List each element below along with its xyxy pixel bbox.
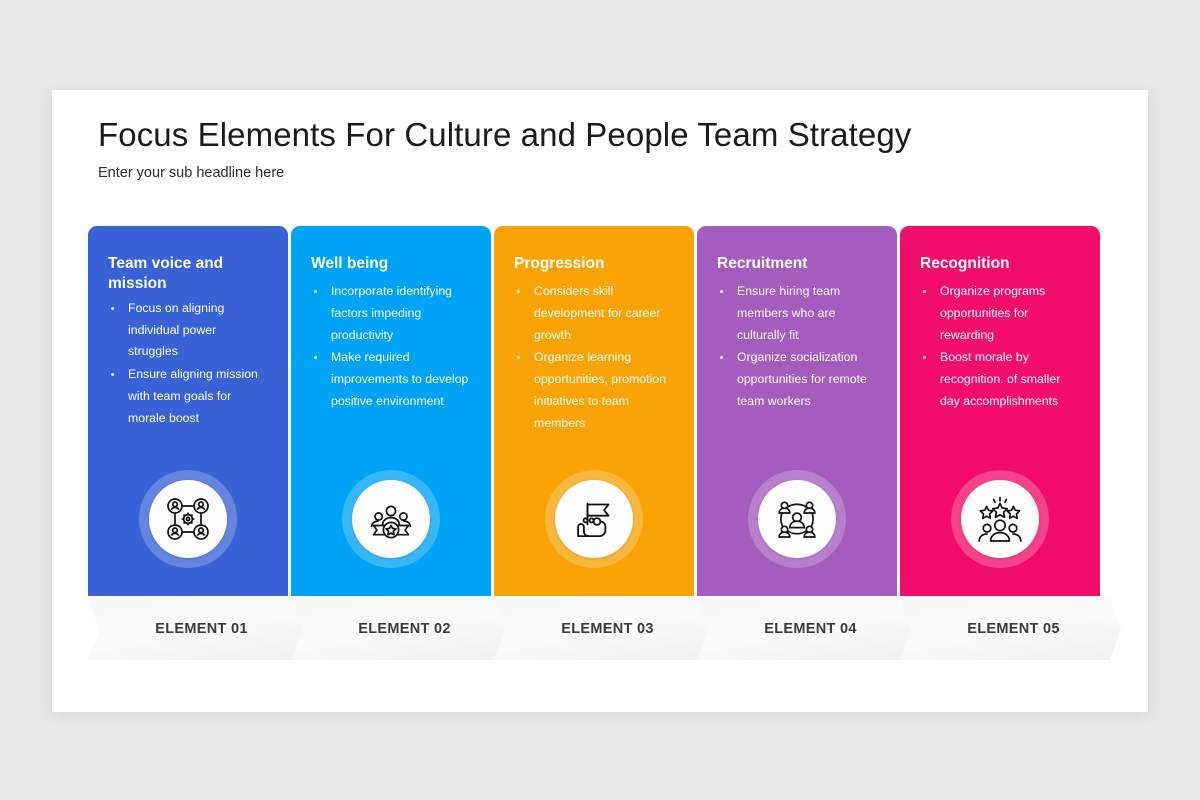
people-network-gear-icon [149,480,227,558]
hand-holding-flag-icon [555,480,633,558]
page-title: Focus Elements For Culture and People Te… [98,116,911,154]
element-banner-4[interactable]: ELEMENT 04 [697,598,918,660]
card-title: Team voice and mission [108,254,268,294]
slide-header: Focus Elements For Culture and People Te… [98,116,911,181]
card-title: Recognition [920,254,1080,274]
list-item: Organize programs opportunities for rewa… [920,281,1080,347]
card-bullet-list: Considers skill development for career g… [514,281,674,435]
element-card-3[interactable]: Progression Considers skill development … [494,226,694,596]
element-card-1[interactable]: Team voice and mission Focus on aligning… [88,226,288,596]
banner-label: ELEMENT 05 [961,621,1059,637]
list-item: Organize learning opportunities, promoti… [514,347,674,435]
element-banner-5[interactable]: ELEMENT 05 [900,598,1121,660]
slide-canvas: Focus Elements For Culture and People Te… [52,90,1148,712]
list-item: Considers skill development for career g… [514,281,674,347]
element-banner-row: ELEMENT 01 ELEMENT 02 ELEMENT 03 ELEMENT… [88,598,1166,660]
banner-label: ELEMENT 04 [758,621,856,637]
icon-badge [951,470,1049,568]
banner-label: ELEMENT 03 [555,621,653,637]
card-bullet-list: Organize programs opportunities for rewa… [920,281,1080,413]
element-banner-1[interactable]: ELEMENT 01 [88,598,309,660]
list-item: Boost morale by recognition. of smaller … [920,347,1080,413]
card-bullet-list: Incorporate identifying factors impeding… [311,281,471,413]
element-card-2[interactable]: Well being Incorporate identifying facto… [291,226,491,596]
element-card-5[interactable]: Recognition Organize programs opportunit… [900,226,1100,596]
list-item: Organize socialization opportunities for… [717,347,877,413]
page-subtitle: Enter your sub headline here [98,165,911,181]
card-title: Well being [311,254,471,274]
list-item: Ensure hiring team members who are cultu… [717,281,877,347]
icon-badge [545,470,643,568]
element-banner-2[interactable]: ELEMENT 02 [291,598,512,660]
list-item: Focus on aligning individual power strug… [108,298,268,364]
list-item: Make required improvements to develop po… [311,347,471,413]
card-title: Recruitment [717,254,877,274]
card-bullet-list: Ensure hiring team members who are cultu… [717,281,877,413]
banner-label: ELEMENT 02 [352,621,450,637]
list-item: Ensure aligning mission with team goals … [108,364,268,430]
banner-label: ELEMENT 01 [149,621,247,637]
element-banner-3[interactable]: ELEMENT 03 [494,598,715,660]
card-title: Progression [514,254,674,274]
element-cards-row: Team voice and mission Focus on aligning… [88,226,1100,596]
element-card-4[interactable]: Recruitment Ensure hiring team members w… [697,226,897,596]
team-star-badge-icon [352,480,430,558]
list-item: Incorporate identifying factors impeding… [311,281,471,347]
icon-badge [748,470,846,568]
icon-badge [139,470,237,568]
icon-badge [342,470,440,568]
three-stars-team-icon [961,480,1039,558]
card-bullet-list: Focus on aligning individual power strug… [108,298,268,430]
people-circle-network-icon [758,480,836,558]
